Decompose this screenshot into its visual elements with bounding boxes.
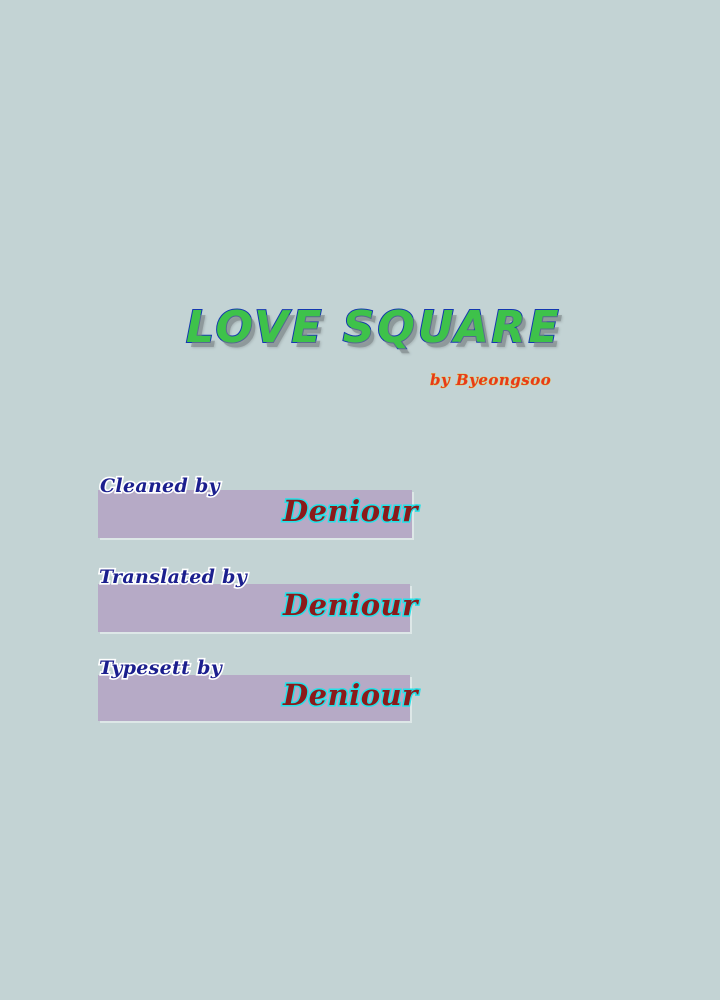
credit-role-label: Typesett by (99, 657, 222, 679)
credit-name-value: Deniour (283, 494, 418, 528)
credit-role-label: Cleaned by (100, 475, 220, 497)
credit-name-value: Deniour (283, 678, 418, 712)
credit-role-label: Translated by (99, 566, 247, 588)
credits-page: LOVE SQUARE by Byeongsoo Cleaned by Deni… (0, 0, 720, 1000)
credit-name-value: Deniour (283, 588, 418, 622)
title-block: LOVE SQUARE (0, 300, 720, 410)
author-credit: by Byeongsoo (430, 371, 551, 389)
series-title: LOVE SQUARE (186, 306, 546, 350)
